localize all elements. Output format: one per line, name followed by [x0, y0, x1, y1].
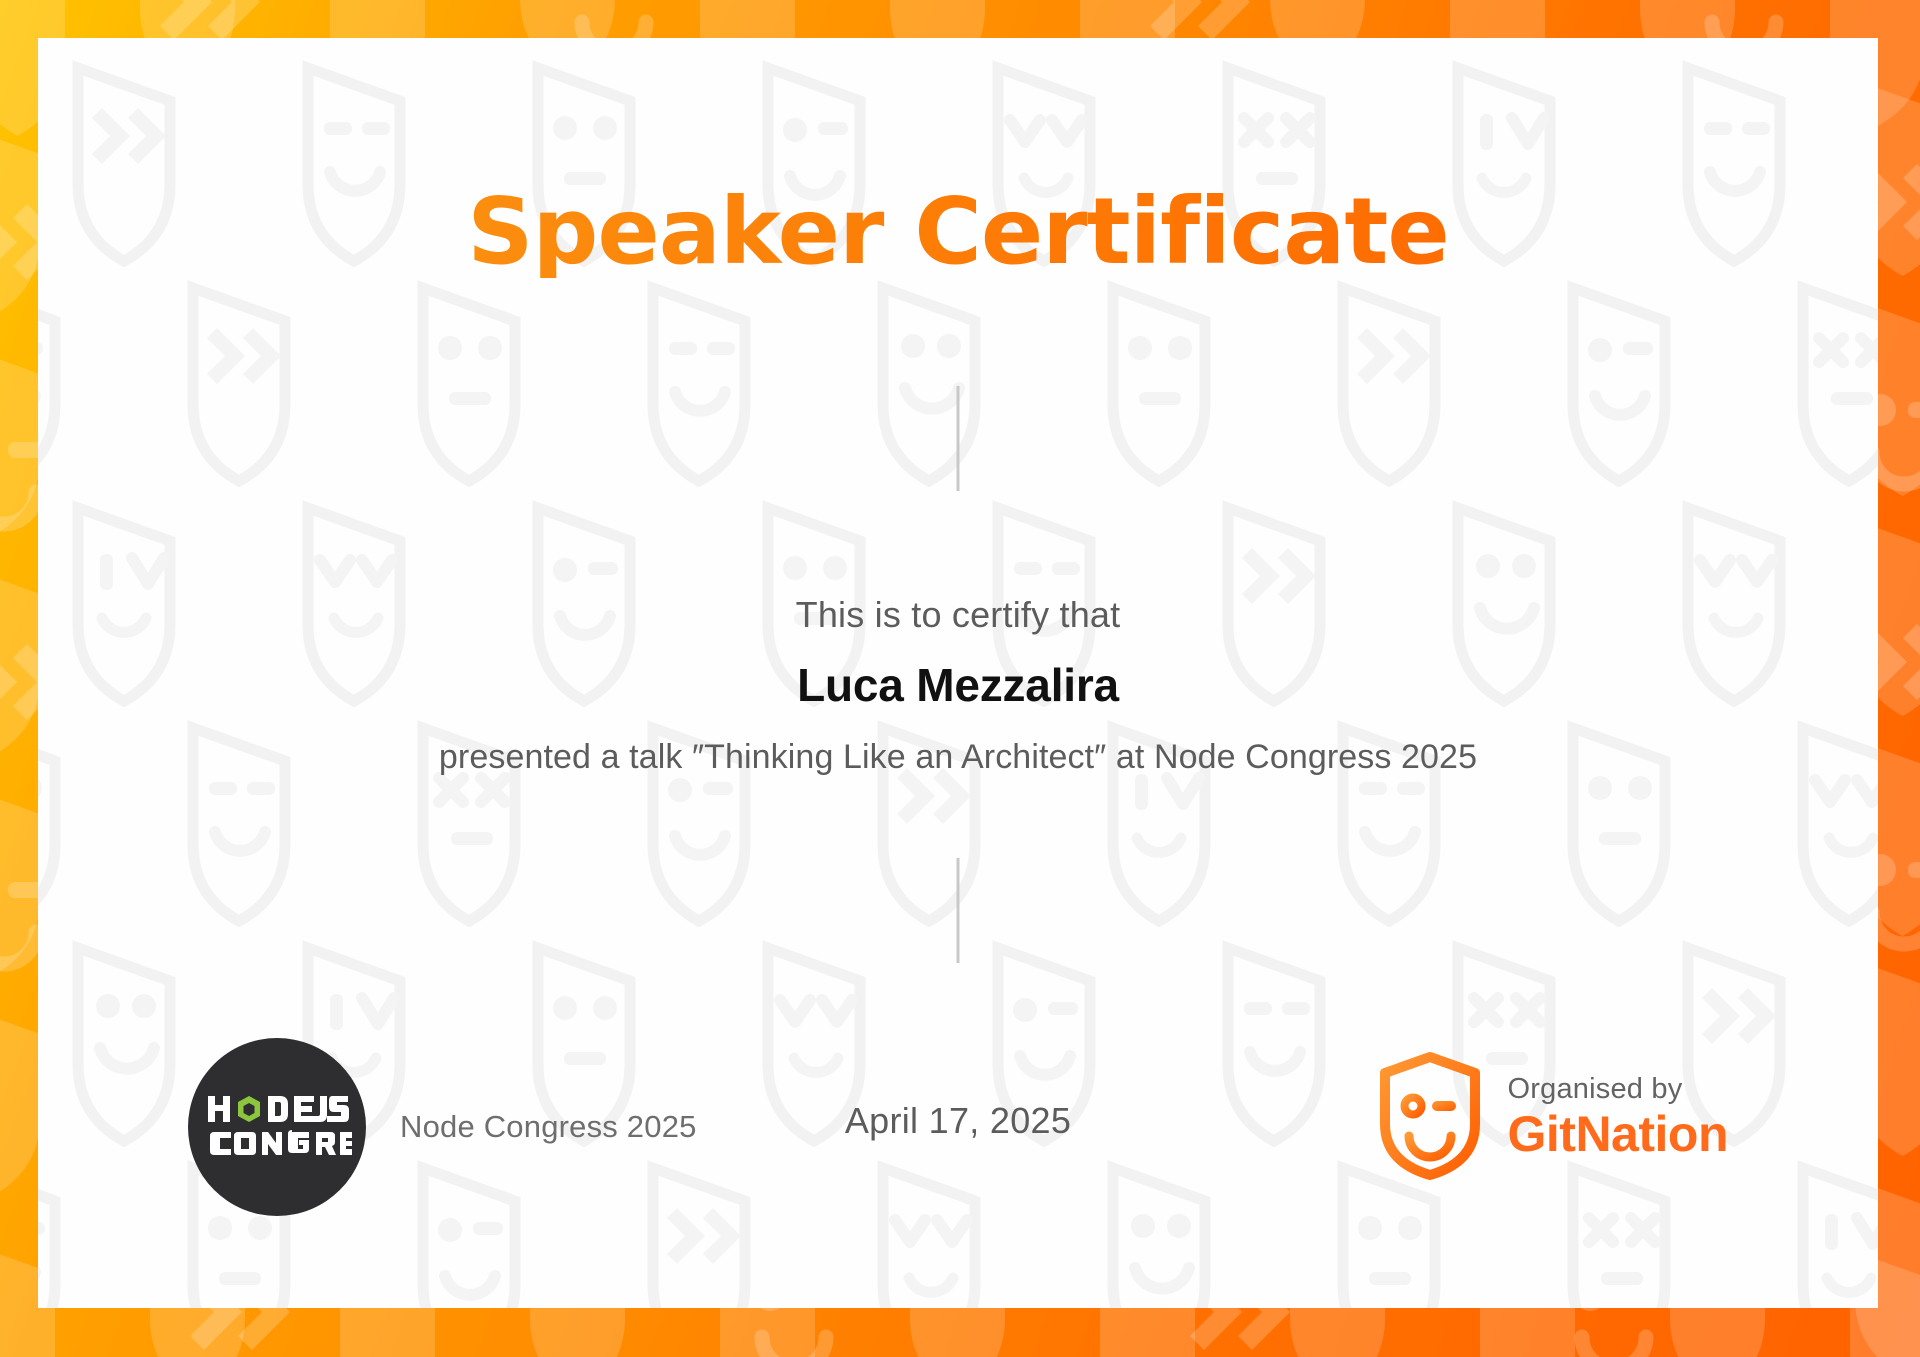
page-title: Speaker Certificate	[38, 186, 1878, 278]
certificate-footer: Node Congress 2025 April 17, 2025	[38, 1038, 1878, 1208]
organiser-block: Organised by GitNation	[1378, 1052, 1728, 1180]
organiser-brand-name: GitNation	[1508, 1107, 1728, 1161]
divider-bottom	[957, 858, 960, 963]
certify-statement: This is to certify that	[38, 594, 1878, 636]
organised-by-label: Organised by	[1508, 1071, 1728, 1107]
divider-top	[957, 386, 960, 491]
speaker-certificate: Speaker Certificate This is to certify t…	[0, 0, 1920, 1357]
recipient-name: Luca Mezzalira	[38, 658, 1878, 712]
organiser-text: Organised by GitNation	[1508, 1071, 1728, 1161]
certificate-card: Speaker Certificate This is to certify t…	[38, 38, 1878, 1308]
talk-statement: presented a talk ″Thinking Like an Archi…	[38, 738, 1878, 777]
gitnation-shield-face-icon	[1378, 1052, 1482, 1180]
